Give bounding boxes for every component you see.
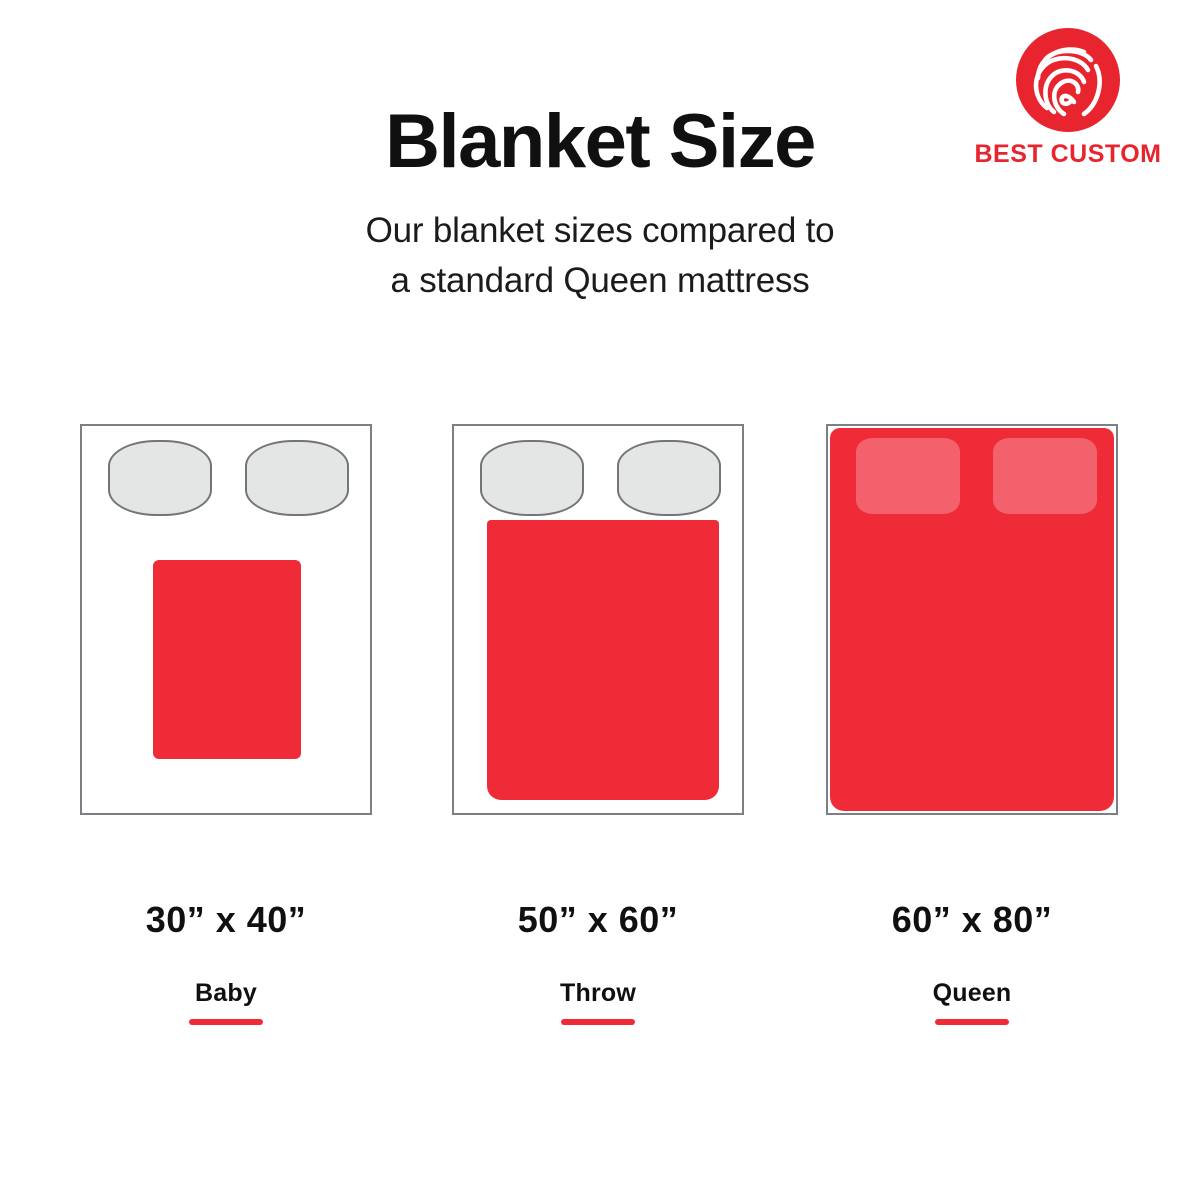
caption-dimensions-throw: 50” x 60” xyxy=(452,900,744,940)
bed-diagram-throw xyxy=(452,424,744,815)
bed-surface-queen xyxy=(828,426,1116,813)
bed-diagrams-row xyxy=(0,424,1200,816)
caption-label-queen: Queen xyxy=(826,980,1118,1008)
bed-diagram-baby xyxy=(80,424,372,815)
caption-underline-baby xyxy=(189,1019,263,1025)
pillow-left-queen xyxy=(856,438,960,514)
pillow-right-baby xyxy=(245,440,349,516)
heading-block: Blanket Size Our blanket sizes compared … xyxy=(0,104,1200,305)
caption-throw: 50” x 60” Throw xyxy=(452,900,744,1025)
page-subtitle: Our blanket sizes compared to a standard… xyxy=(0,206,1200,305)
caption-label-baby: Baby xyxy=(80,980,372,1008)
pillow-left-baby xyxy=(108,440,212,516)
blanket-baby xyxy=(153,560,301,759)
page-subtitle-line-1: Our blanket sizes compared to xyxy=(0,206,1200,256)
caption-underline-queen xyxy=(935,1019,1009,1025)
caption-queen: 60” x 80” Queen xyxy=(826,900,1118,1025)
caption-underline-throw xyxy=(561,1019,635,1025)
caption-baby: 30” x 40” Baby xyxy=(80,900,372,1025)
page-subtitle-line-2: a standard Queen mattress xyxy=(0,256,1200,306)
caption-label-throw: Throw xyxy=(452,980,744,1008)
pillow-right-queen xyxy=(993,438,1097,514)
captions-row: 30” x 40” Baby 50” x 60” Throw 60” x 80”… xyxy=(0,900,1200,1060)
caption-dimensions-baby: 30” x 40” xyxy=(80,900,372,940)
blanket-queen xyxy=(830,428,1114,811)
page-title: Blanket Size xyxy=(0,104,1200,180)
bed-surface-throw xyxy=(454,426,742,813)
pillow-right-throw xyxy=(617,440,721,516)
blanket-throw xyxy=(487,520,719,800)
caption-dimensions-queen: 60” x 80” xyxy=(826,900,1118,940)
bed-surface-baby xyxy=(82,426,370,813)
bed-diagram-queen xyxy=(826,424,1118,815)
pillow-left-throw xyxy=(480,440,584,516)
